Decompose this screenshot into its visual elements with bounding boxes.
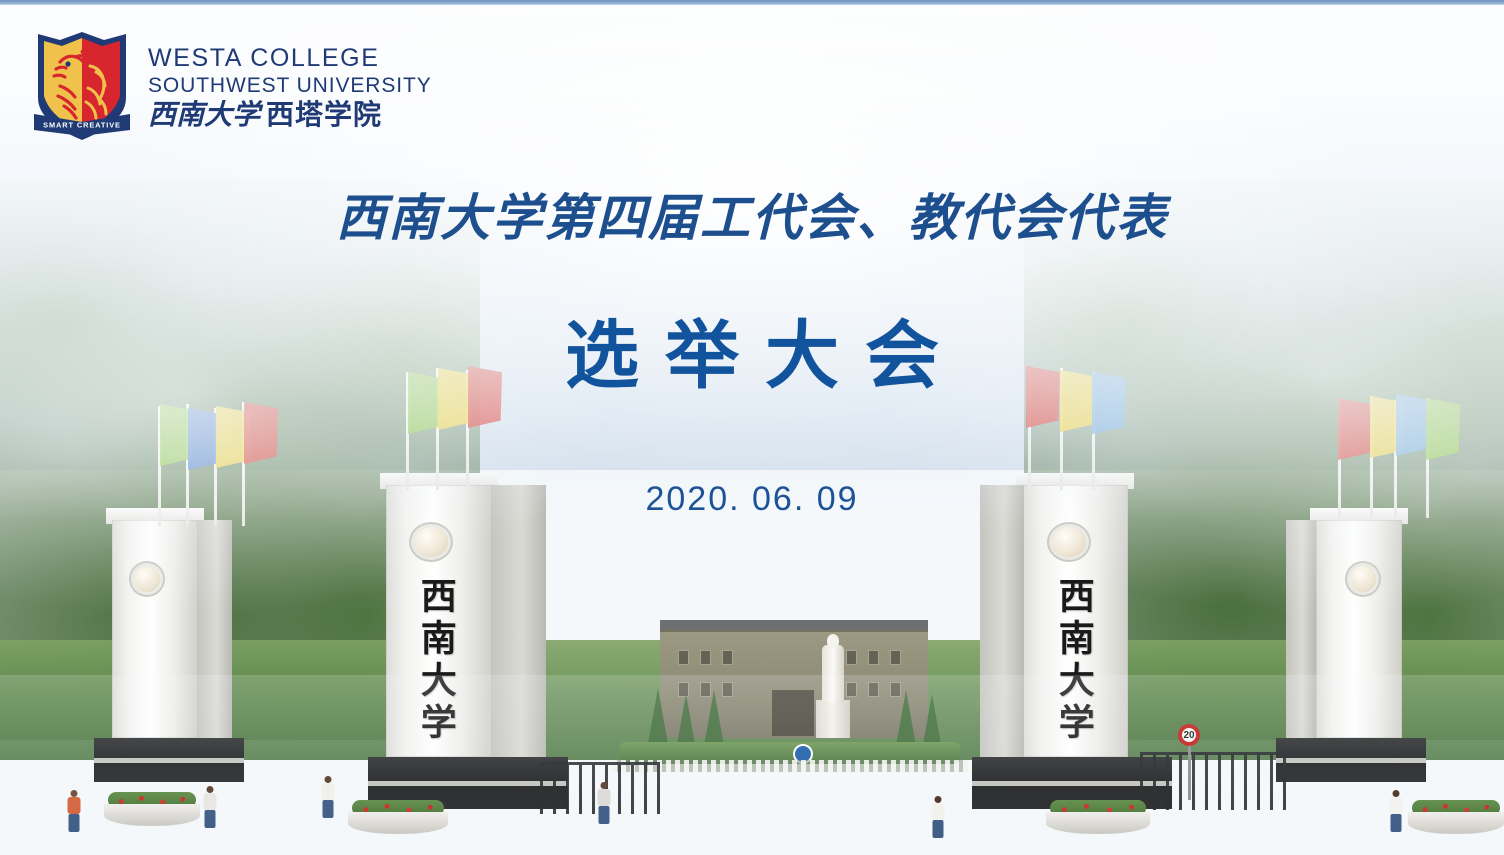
brand-name-en-primary: WESTA COLLEGE bbox=[148, 46, 432, 71]
slide-content: SMART CREATIVE WESTA COLLEGE SOUTHWEST U… bbox=[0, 0, 1504, 855]
brand-name-cn-college: 西塔学院 bbox=[266, 98, 382, 131]
westa-lion-shield-crest-icon: SMART CREATIVE bbox=[30, 26, 134, 144]
top-accent-bar bbox=[0, 0, 1504, 5]
slide-date: 2020. 06. 09 bbox=[0, 480, 1504, 519]
crest-ribbon-text: SMART CREATIVE bbox=[43, 121, 121, 130]
slide-subtitle: 西南大学第四届工代会、教代会代表 bbox=[0, 178, 1504, 250]
brand-name-cn: 西南大学西塔学院 bbox=[148, 101, 432, 129]
slide-main-title: 选举大会 bbox=[0, 296, 1504, 403]
brand-name-cn-university: 西南大学 bbox=[148, 98, 260, 131]
brand-lockup: SMART CREATIVE WESTA COLLEGE SOUTHWEST U… bbox=[30, 26, 432, 144]
brand-name-en-secondary: SOUTHWEST UNIVERSITY bbox=[148, 75, 432, 96]
presentation-slide: 西南大学 西南大学 bbox=[0, 0, 1504, 855]
brand-text-block: WESTA COLLEGE SOUTHWEST UNIVERSITY 西南大学西… bbox=[148, 42, 432, 129]
